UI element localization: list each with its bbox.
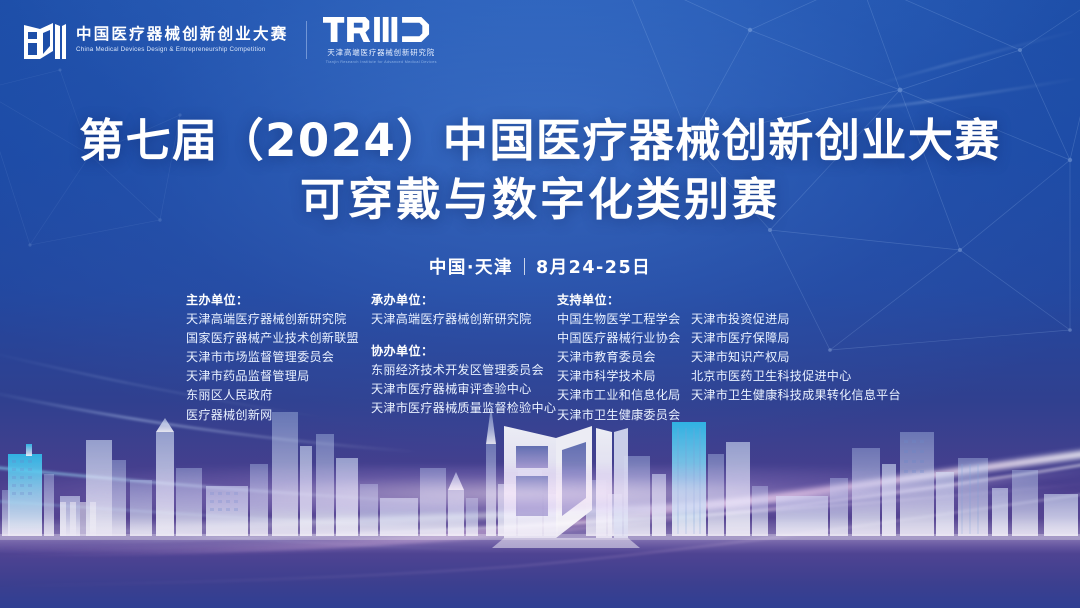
org-group-host: 主办单位： 天津高端医疗器械创新研究院 国家医疗器械产业技术创新联盟 天津市市场…: [186, 291, 371, 425]
org-item: 天津市医疗保障局: [691, 329, 906, 348]
org-item: 中国医疗器械行业协会: [557, 329, 691, 348]
org-item: 医疗器械创新网: [186, 406, 371, 425]
org-item: 东丽区人民政府: [186, 386, 371, 405]
org-item: 天津市卫生健康委员会: [557, 406, 691, 425]
title-block: 第七届（2024）中国医疗器械创新创业大赛 可穿戴与数字化类别赛 中国·天津 8…: [0, 114, 1080, 279]
org-item: 天津市卫生健康科技成果转化信息平台: [691, 386, 906, 405]
event-date: 8月24-25日: [536, 254, 651, 279]
title-line-1: 第七届（2024）中国医疗器械创新创业大赛: [0, 114, 1080, 169]
org-item: 天津高端医疗器械创新研究院: [371, 310, 557, 329]
org-group-supporters: 支持单位： 中国生物医学工程学会 中国医疗器械行业协会 天津市教育委员会 天津市…: [557, 291, 691, 425]
org-item: 天津市药品监督管理局: [186, 367, 371, 386]
triid-wordmark-icon: [323, 16, 439, 43]
org-item: 中国生物医学工程学会: [557, 310, 691, 329]
triid-logo-cn: 天津高端医疗器械创新研究院: [327, 47, 435, 58]
org-group-coorganizer: 协办单位： 东丽经济技术开发区管理委员会 天津市医疗器械审评查验中心 天津市医疗…: [371, 342, 557, 418]
org-group-heading: 支持单位：: [557, 291, 691, 310]
event-location: 中国·天津: [429, 254, 513, 279]
org-item: 天津市工业和信息化局: [557, 386, 691, 405]
org-group-organizer: 承办单位： 天津高端医疗器械创新研究院: [371, 291, 557, 329]
event-subline: 中国·天津 8月24-25日: [0, 254, 1080, 279]
org-column-4: 天津市投资促进局 天津市医疗保障局 天津市知识产权局 北京市医药卫生科技促进中心…: [691, 291, 906, 406]
org-item: 北京市医药卫生科技促进中心: [691, 367, 906, 386]
organizations-block: 主办单位： 天津高端医疗器械创新研究院 国家医疗器械产业技术创新联盟 天津市市场…: [186, 291, 906, 425]
org-item: 天津市教育委员会: [557, 348, 691, 367]
org-group-heading: 协办单位：: [371, 342, 557, 361]
logo-divider: [306, 21, 307, 59]
org-column-3: 支持单位： 中国生物医学工程学会 中国医疗器械行业协会 天津市教育委员会 天津市…: [557, 291, 691, 425]
header-logos: 中国医疗器械创新创业大赛 China Medical Devices Desig…: [22, 16, 439, 64]
org-column-2: 承办单位： 天津高端医疗器械创新研究院 协办单位： 东丽经济技术开发区管理委员会…: [371, 291, 557, 419]
triid-logo-en: Tianjin Research Institute for Advanced …: [326, 60, 437, 64]
open-door-mark-icon: [22, 19, 67, 61]
competition-logo: 中国医疗器械创新创业大赛 China Medical Devices Desig…: [22, 19, 288, 61]
org-column-1: 主办单位： 天津高端医疗器械创新研究院 国家医疗器械产业技术创新联盟 天津市市场…: [186, 291, 371, 425]
org-item: 天津市医疗器械质量监督检验中心: [371, 399, 557, 418]
org-item: 天津市投资促进局: [691, 310, 906, 329]
subline-separator: [524, 258, 525, 275]
org-group-heading: 主办单位：: [186, 291, 371, 310]
poster-canvas: 中国医疗器械创新创业大赛 China Medical Devices Desig…: [0, 0, 1080, 608]
org-item: 东丽经济技术开发区管理委员会: [371, 361, 557, 380]
org-item: 天津市医疗器械审评查验中心: [371, 380, 557, 399]
org-group-supporters-continued: 天津市投资促进局 天津市医疗保障局 天津市知识产权局 北京市医药卫生科技促进中心…: [691, 291, 906, 406]
org-item: 天津市知识产权局: [691, 348, 906, 367]
triid-logo: 天津高端医疗器械创新研究院 Tianjin Research Institute…: [323, 16, 439, 64]
org-group-heading: 承办单位：: [371, 291, 557, 310]
competition-logo-en: China Medical Devices Design & Entrepren…: [76, 45, 293, 54]
org-item: 天津市科学技术局: [557, 367, 691, 386]
city-skyline-graphic: [0, 398, 1080, 608]
org-item: 国家医疗器械产业技术创新联盟: [186, 329, 371, 348]
org-item: 天津高端医疗器械创新研究院: [186, 310, 371, 329]
title-line-2: 可穿戴与数字化类别赛: [0, 173, 1080, 228]
competition-logo-cn: 中国医疗器械创新创业大赛: [76, 26, 288, 44]
org-item: 天津市市场监督管理委员会: [186, 348, 371, 367]
